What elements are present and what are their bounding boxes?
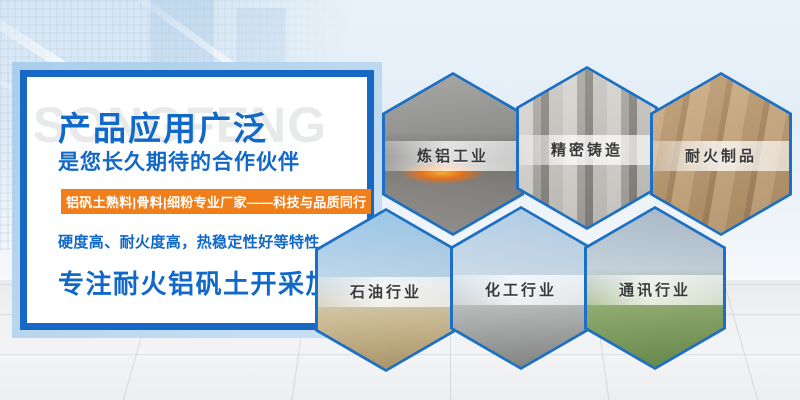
orange-band-text: 铝矾土熟料|骨料|细粉专业厂家——科技与品质同行 — [66, 192, 366, 211]
hex-label: 精密铸造 — [519, 135, 655, 165]
floor-line-v5 — [723, 280, 758, 400]
banner-stage: SONGFENG 产品应用广泛 是您长久期待的合作伙伴 铝矾土熟料|骨料|细粉专… — [0, 0, 800, 400]
orange-highlight-band: 铝矾土熟料|骨料|细粉专业厂家——科技与品质同行 — [61, 189, 371, 214]
hex-label: 石油行业 — [318, 277, 454, 307]
page-title: 产品应用广泛 — [58, 102, 268, 150]
subheadline: 是您长久期待的合作伙伴 — [58, 146, 300, 176]
feature-line: 硬度高、耐火度高，热稳定性好等特性 — [58, 231, 320, 252]
hex-label: 炼铝工业 — [385, 141, 521, 171]
hex-label: 通讯行业 — [587, 275, 723, 305]
hex-label: 耐火制品 — [653, 141, 789, 171]
hex-label: 化工行业 — [453, 275, 589, 305]
